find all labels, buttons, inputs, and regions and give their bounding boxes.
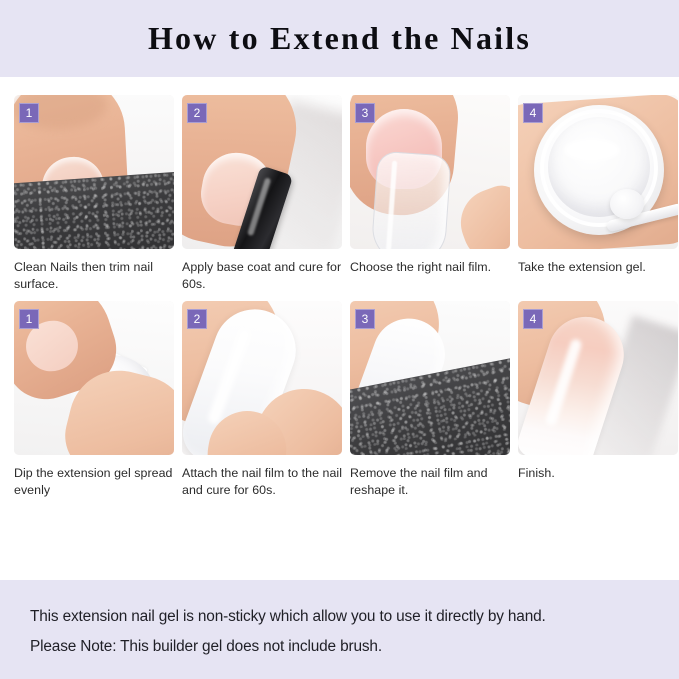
infographic-page: How to Extend the Nails 1 Clean Nails th… <box>0 0 679 679</box>
step-caption-5: Dip the extension gel spread evenly <box>14 465 174 499</box>
step-caption-4: Take the extension gel. <box>518 259 678 276</box>
step-cell-2: 2 Apply base coat and cure for 60s. <box>182 95 342 293</box>
nail-file-shape <box>14 170 174 249</box>
step-badge-5: 1 <box>19 309 39 329</box>
step-row-1: 1 Clean Nails then trim nail surface. 2 … <box>14 95 665 293</box>
step-photo-base-coat: 2 <box>182 95 342 249</box>
step-badge-1: 1 <box>19 103 39 123</box>
step-cell-8: 4 Finish. <box>518 301 678 499</box>
step-photo-nail-film: 3 <box>350 95 510 249</box>
step-cell-1: 1 Clean Nails then trim nail surface. <box>14 95 174 293</box>
step-row-2: 1 Dip the extension gel spread evenly 2 … <box>14 301 665 499</box>
footer-line-2: Please Note: This builder gel does not i… <box>30 632 649 662</box>
step-caption-8: Finish. <box>518 465 678 482</box>
step-caption-6: Attach the nail film to the nail and cur… <box>182 465 342 499</box>
step-photo-attach-film: 2 <box>182 301 342 455</box>
step-photo-dip-gel: 1 <box>14 301 174 455</box>
step-photo-reshape: 3 <box>350 301 510 455</box>
step-cell-6: 2 Attach the nail film to the nail and c… <box>182 301 342 499</box>
step-caption-7: Remove the nail film and reshape it. <box>350 465 510 499</box>
step-badge-3: 3 <box>355 103 375 123</box>
step-photo-finish: 4 <box>518 301 678 455</box>
step-cell-3: 3 Choose the right nail film. <box>350 95 510 293</box>
step-badge-4: 4 <box>523 103 543 123</box>
header-band: How to Extend the Nails <box>0 0 679 77</box>
step-badge-8: 4 <box>523 309 543 329</box>
step-caption-3: Choose the right nail film. <box>350 259 510 276</box>
step-photo-extension-gel-jar: 4 <box>518 95 678 249</box>
step-cell-4: 4 Take the extension gel. <box>518 95 678 293</box>
step-cell-7: 3 Remove the nail film and reshape it. <box>350 301 510 499</box>
step-badge-2: 2 <box>187 103 207 123</box>
step-caption-2: Apply base coat and cure for 60s. <box>182 259 342 293</box>
nail-film-shape <box>370 151 451 249</box>
gel-blob <box>610 189 644 219</box>
step-badge-7: 3 <box>355 309 375 329</box>
step-caption-1: Clean Nails then trim nail surface. <box>14 259 174 293</box>
page-title: How to Extend the Nails <box>148 20 531 57</box>
steps-area: 1 Clean Nails then trim nail surface. 2 … <box>0 77 679 580</box>
footer-band: This extension nail gel is non-sticky wh… <box>0 580 679 679</box>
footer-line-1: This extension nail gel is non-sticky wh… <box>30 602 649 632</box>
step-cell-5: 1 Dip the extension gel spread evenly <box>14 301 174 499</box>
step-photo-clean-nails: 1 <box>14 95 174 249</box>
step-badge-6: 2 <box>187 309 207 329</box>
